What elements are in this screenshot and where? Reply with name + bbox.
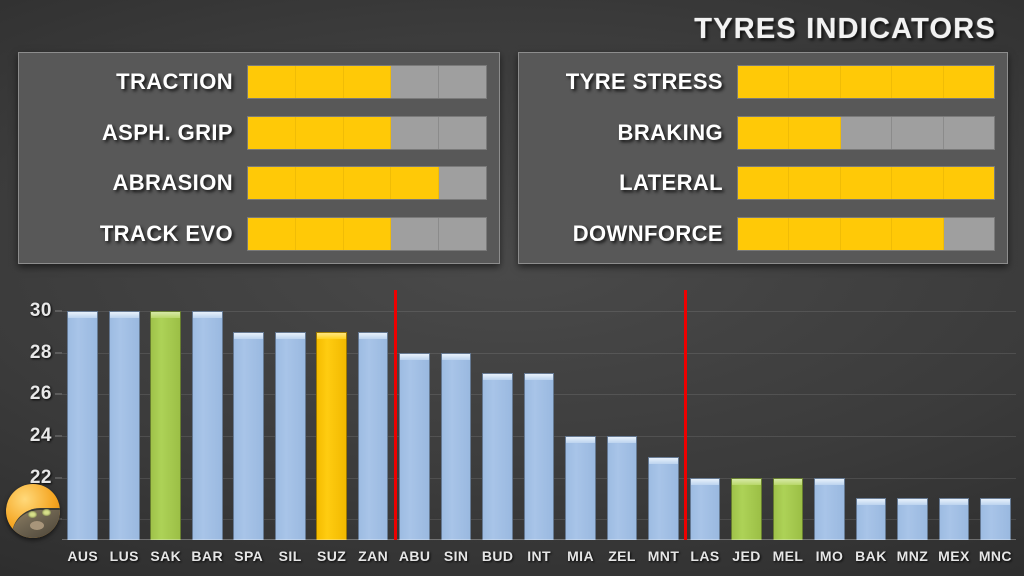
tyre-indicators-right-panel: TYRE STRESSBRAKINGLATERALDOWNFORCE [518,52,1008,264]
meter-segment [892,218,943,250]
x-tick-label: MNT [643,548,684,564]
indicator-row: BRAKING [529,114,995,152]
y-tick-mark [55,435,62,436]
indicator-meter[interactable] [737,65,995,99]
meter-segment [841,66,892,98]
x-tick-label: SPA [228,548,269,564]
bar-slot[interactable] [394,290,435,540]
indicator-label: ASPH. GRIP [29,120,247,146]
bar-slot[interactable] [103,290,144,540]
meter-segment [391,66,439,98]
meter-segment [248,218,296,250]
x-tick-label: BAK [850,548,891,564]
meter-segment [296,117,344,149]
indicator-row: LATERAL [529,164,995,202]
header-bar: TYRES INDICATORS [0,8,996,50]
meter-segment [789,218,840,250]
bar-slot[interactable] [684,290,725,540]
x-tick-label: SUZ [311,548,352,564]
chart-bar[interactable] [441,353,472,541]
cat-eye-left [28,511,37,518]
chart-bar[interactable] [731,478,762,541]
x-tick-label: BAR [186,548,227,564]
indicator-row: ABRASION [29,164,487,202]
meter-segment [841,218,892,250]
meter-segment [344,117,392,149]
x-tick-label: MIA [560,548,601,564]
indicator-row: ASPH. GRIP [29,114,487,152]
indicator-label: BRAKING [529,120,737,146]
bar-slot[interactable] [269,290,310,540]
bar-slot[interactable] [643,290,684,540]
indicator-meter[interactable] [737,217,995,251]
meter-segment [248,66,296,98]
indicator-row: TRACTION [29,63,487,101]
indicator-label: ABRASION [29,170,247,196]
meter-segment [892,117,943,149]
meter-segment [296,167,344,199]
indicator-meter[interactable] [247,116,487,150]
chart-divider-line [684,290,687,540]
indicator-label: LATERAL [529,170,737,196]
bar-slot[interactable] [311,290,352,540]
chart-bar[interactable] [524,373,555,540]
chart-bars [62,290,1016,540]
x-tick-label: MNZ [892,548,933,564]
meter-segment [344,66,392,98]
bar-slot[interactable] [601,290,642,540]
meter-segment [944,218,994,250]
x-tick-label: INT [518,548,559,564]
bar-slot[interactable] [477,290,518,540]
y-tick-mark [55,310,62,311]
meter-segment [892,66,943,98]
y-tick-label: 30 [30,300,52,322]
x-tick-label: MNC [975,548,1016,564]
chart-bar[interactable] [192,311,223,540]
indicator-label: TRACK EVO [29,221,247,247]
x-tick-label: SIL [269,548,310,564]
bar-slot[interactable] [352,290,393,540]
x-tick-label: ZEL [601,548,642,564]
chart-baseline [62,539,1016,540]
meter-segment [944,167,994,199]
meter-segment [738,117,789,149]
meter-segment [439,117,486,149]
chart-bar[interactable] [897,498,928,540]
chart-bar[interactable] [690,478,721,541]
chart-bar[interactable] [814,478,845,541]
x-tick-label: BUD [477,548,518,564]
y-tick-mark [55,477,62,478]
y-tick-label: 26 [30,383,52,405]
meter-segment [841,167,892,199]
y-tick-label: 28 [30,342,52,364]
indicator-meter[interactable] [247,166,487,200]
cat-eye-right [42,509,51,516]
indicator-meter[interactable] [247,65,487,99]
cat-helmet-avatar[interactable] [6,484,60,538]
x-tick-label: SIN [435,548,476,564]
chart-bar[interactable] [358,332,389,540]
chart-bar[interactable] [67,311,98,540]
meter-segment [841,117,892,149]
meter-segment [391,167,439,199]
meter-segment [738,167,789,199]
meter-segment [738,218,789,250]
tyre-indicators-left-panel: TRACTIONASPH. GRIPABRASIONTRACK EVO [18,52,500,264]
y-tick-mark [55,352,62,353]
chart-bar[interactable] [275,332,306,540]
x-tick-label: JED [726,548,767,564]
meter-segment [296,66,344,98]
x-tick-label: AUS [62,548,103,564]
x-tick-label: ZAN [352,548,393,564]
bar-slot[interactable] [145,290,186,540]
bar-slot[interactable] [726,290,767,540]
x-tick-label: LAS [684,548,725,564]
indicator-label: TYRE STRESS [529,69,737,95]
bar-slot[interactable] [228,290,269,540]
chart-bar[interactable] [856,498,887,540]
meter-segment [391,117,439,149]
meter-segment [738,66,789,98]
chart-bar[interactable] [980,498,1011,540]
bar-slot[interactable] [975,290,1016,540]
bar-slot[interactable] [933,290,974,540]
chart-bar[interactable] [648,457,679,540]
meter-segment [296,218,344,250]
chart-bar[interactable] [316,332,347,540]
chart-bar[interactable] [482,373,513,540]
meter-segment [344,218,392,250]
cat-snout [30,521,44,530]
chart-plot-area: 302826242220 [62,290,1016,540]
chart-bar[interactable] [607,436,638,540]
track-severity-bar-chart: 302826242220 AUSLUSSAKBARSPASILSUZZANABU… [0,272,1024,576]
indicator-row: DOWNFORCE [529,215,995,253]
x-tick-label: IMO [809,548,850,564]
chart-bar[interactable] [109,311,140,540]
meter-segment [344,167,392,199]
chart-bar[interactable] [773,478,804,541]
x-tick-label: SAK [145,548,186,564]
meter-segment [789,167,840,199]
bar-slot[interactable] [186,290,227,540]
bar-slot[interactable] [850,290,891,540]
bar-slot[interactable] [809,290,850,540]
chart-divider-line [394,290,397,540]
bar-slot[interactable] [435,290,476,540]
chart-bar[interactable] [565,436,596,540]
meter-segment [248,117,296,149]
indicator-meter[interactable] [737,116,995,150]
indicator-row: TYRE STRESS [529,63,995,101]
chart-bar[interactable] [150,311,181,540]
bar-slot[interactable] [767,290,808,540]
meter-segment [944,117,994,149]
indicator-row: TRACK EVO [29,215,487,253]
y-tick-label: 24 [30,425,52,447]
page-title: TYRES INDICATORS [694,13,996,46]
chart-bar[interactable] [939,498,970,540]
meter-segment [391,218,439,250]
x-tick-label: MEL [767,548,808,564]
x-tick-label: LUS [103,548,144,564]
meter-segment [789,66,840,98]
meter-segment [892,167,943,199]
bar-slot[interactable] [518,290,559,540]
x-tick-label: ABU [394,548,435,564]
x-tick-label: MEX [933,548,974,564]
indicator-meter[interactable] [247,217,487,251]
indicator-label: DOWNFORCE [529,221,737,247]
bar-slot[interactable] [560,290,601,540]
y-tick-mark [55,394,62,395]
meter-segment [439,218,486,250]
chart-x-axis: AUSLUSSAKBARSPASILSUZZANABUSINBUDINTMIAZ… [62,544,1016,568]
indicator-label: TRACTION [29,69,247,95]
bar-slot[interactable] [62,290,103,540]
meter-segment [439,66,486,98]
chart-bar[interactable] [399,353,430,541]
bar-slot[interactable] [892,290,933,540]
meter-segment [439,167,486,199]
meter-segment [789,117,840,149]
chart-bar[interactable] [233,332,264,540]
meter-segment [248,167,296,199]
meter-segment [944,66,994,98]
indicator-meter[interactable] [737,166,995,200]
